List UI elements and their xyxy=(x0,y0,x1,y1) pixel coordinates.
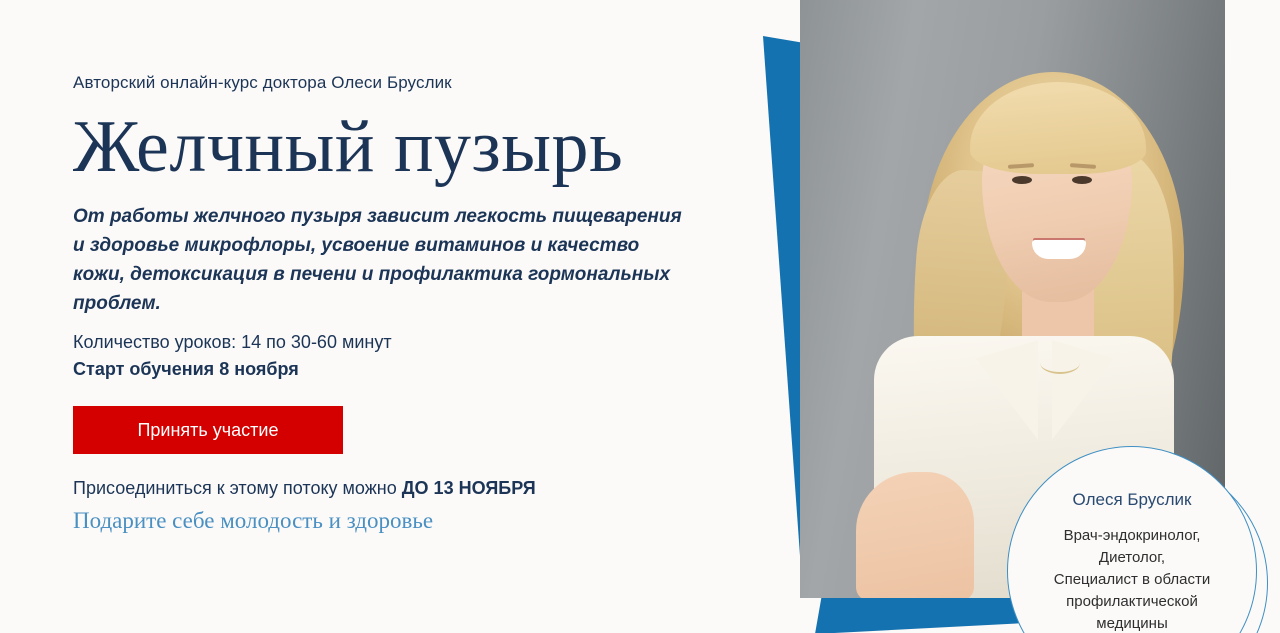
enrollment-deadline: Присоединиться к этому потоку можно ДО 1… xyxy=(73,476,536,501)
hero-section: Авторский онлайн-курс доктора Олеси Брус… xyxy=(0,0,1280,633)
course-eyebrow: Авторский онлайн-курс доктора Олеси Брус… xyxy=(73,72,452,94)
hero-text-column: Авторский онлайн-курс доктора Олеси Брус… xyxy=(73,0,723,633)
course-meta: Количество уроков: 14 по 30-60 минут Ста… xyxy=(73,329,673,383)
deadline-prefix-text: Присоединиться к этому потоку можно xyxy=(73,478,402,498)
lesson-count: Количество уроков: 14 по 30-60 минут xyxy=(73,329,673,356)
instructor-credentials: Врач-эндокринолог, Диетолог, Специалист … xyxy=(1054,525,1211,633)
course-description: От работы желчного пузыря зависит легкос… xyxy=(73,202,695,318)
tagline-link[interactable]: Подарите себе молодость и здоровье xyxy=(73,506,433,536)
eye-left xyxy=(1012,176,1032,184)
blue-accent-band-bottom xyxy=(815,594,1030,633)
instructor-name: Олеся Бруслик xyxy=(1073,489,1192,511)
page-title: Желчный пузырь xyxy=(73,106,623,188)
arm xyxy=(856,472,974,598)
hero-media-column: Олеся Бруслик Врач-эндокринолог, Диетоло… xyxy=(735,0,1280,633)
join-course-button[interactable]: Принять участие xyxy=(73,406,343,454)
necklace xyxy=(1040,352,1080,374)
deadline-highlight-text: ДО 13 НОЯБРЯ xyxy=(402,478,536,498)
eye-right xyxy=(1072,176,1092,184)
start-date: Старт обучения 8 ноября xyxy=(73,356,673,383)
smiling-mouth xyxy=(1032,240,1086,259)
